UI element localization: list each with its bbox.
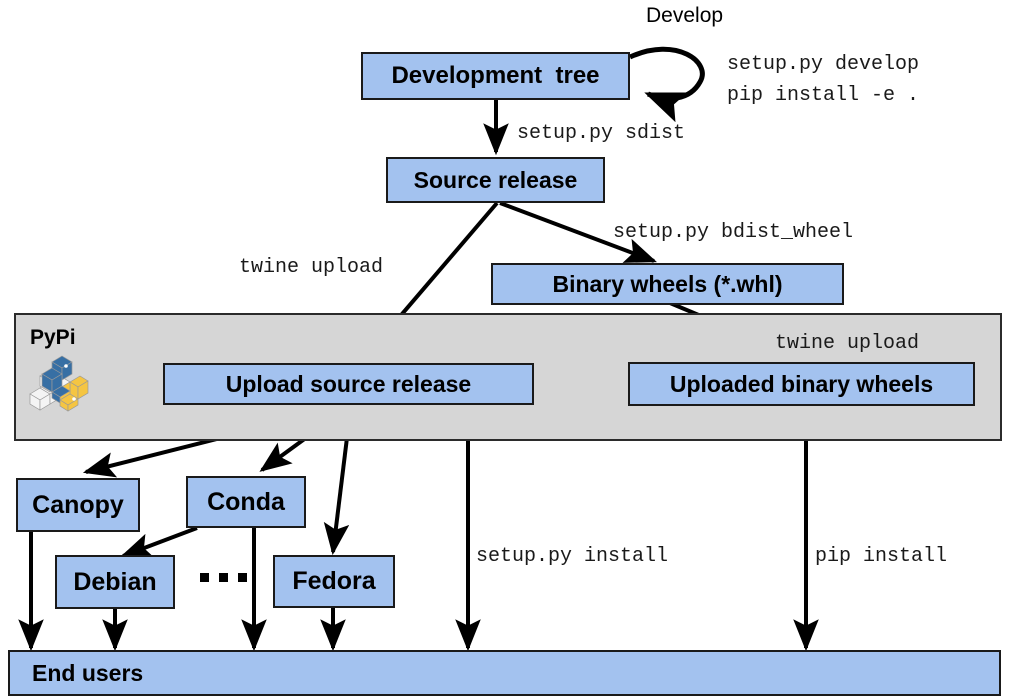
label-twine-upload-wheels: twine upload [775, 332, 919, 355]
ellipsis-indicator [200, 573, 247, 582]
label-setup-py-sdist: setup.py sdist [517, 122, 685, 145]
label-setup-py-install: setup.py install [476, 545, 668, 568]
node-development-tree[interactable]: Development tree [361, 52, 630, 100]
node-uploaded-binary-wheels[interactable]: Uploaded binary wheels [628, 362, 975, 406]
node-debian[interactable]: Debian [55, 555, 175, 609]
python-cubes-logo-icon [26, 354, 92, 416]
diagram-canvas: PyPi [0, 0, 1009, 698]
label-pip-install: pip install [815, 545, 947, 568]
node-end-users[interactable]: End users [8, 650, 1001, 696]
label-setup-py-develop: setup.py develop [727, 53, 919, 76]
node-fedora[interactable]: Fedora [273, 555, 395, 608]
label-twine-upload-source: twine upload [239, 256, 383, 279]
pypi-group-label: PyPi [30, 326, 76, 350]
node-conda[interactable]: Conda [186, 476, 306, 528]
node-binary-wheels[interactable]: Binary wheels (*.whl) [491, 263, 844, 305]
node-source-release[interactable]: Source release [386, 157, 605, 203]
node-canopy[interactable]: Canopy [16, 478, 140, 532]
node-upload-source-release[interactable]: Upload source release [163, 363, 534, 405]
label-setup-py-bdist-wheel: setup.py bdist_wheel [613, 221, 853, 244]
label-pip-install-editable: pip install -e . [727, 84, 919, 107]
label-develop: Develop [646, 4, 723, 28]
